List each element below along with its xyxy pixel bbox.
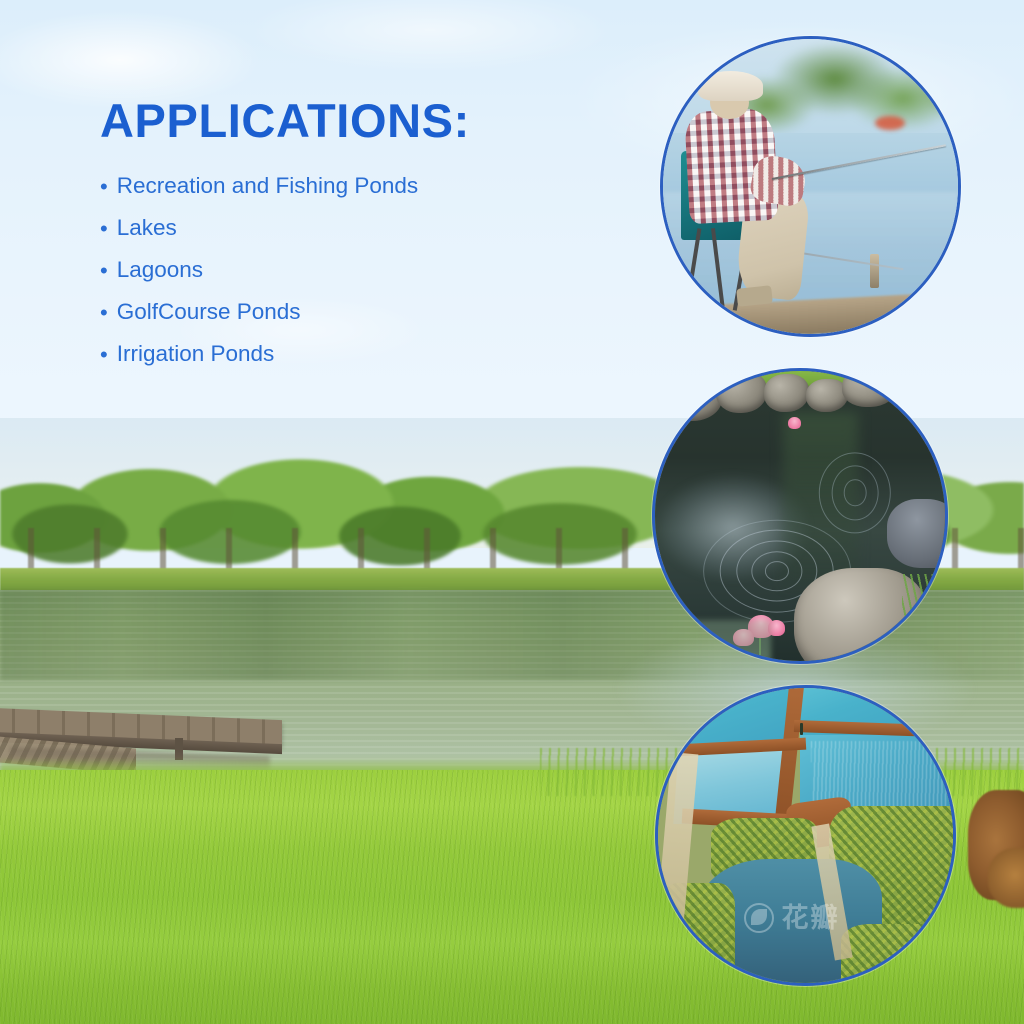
pond-scene (655, 371, 945, 661)
circle-photo-fishing (660, 36, 961, 337)
circle-photo-irrigation: 花瓣 (655, 685, 956, 986)
list-item-label: GolfCourse Ponds (117, 301, 301, 324)
list-item: • GolfCourse Ponds (100, 301, 620, 324)
list-item-label: Irrigation Ponds (117, 343, 275, 366)
pond-outer-water (655, 620, 771, 661)
fishing-dock-post (870, 254, 879, 288)
list-item-label: Lagoons (117, 259, 203, 282)
banner-canvas: APPLICATIONS: • Recreation and Fishing P… (0, 0, 1024, 1024)
page-title: APPLICATIONS: (100, 96, 620, 145)
angler-white-hat (698, 71, 763, 101)
list-item: • Lakes (100, 217, 620, 240)
pond-ripple-rings-secondary (817, 452, 892, 533)
irrigation-scene: 花瓣 (658, 688, 953, 983)
circle-photo-pond (652, 368, 948, 664)
applications-list: • Recreation and Fishing Ponds • Lakes •… (100, 175, 620, 366)
water-lily-distant (788, 417, 801, 429)
bullet-dot-icon: • (100, 344, 108, 366)
angler-shoe (736, 285, 773, 306)
person-on-levee (800, 723, 803, 735)
pond-rock-right (887, 499, 948, 569)
bullet-dot-icon: • (100, 176, 108, 198)
bullet-dot-icon: • (100, 302, 108, 324)
list-item-label: Recreation and Fishing Ponds (117, 175, 418, 198)
bullet-dot-icon: • (100, 218, 108, 240)
list-item: • Irrigation Ponds (100, 343, 620, 366)
list-item-label: Lakes (117, 217, 177, 240)
irrigation-vegetation (841, 924, 956, 986)
applications-panel: APPLICATIONS: • Recreation and Fishing P… (100, 96, 620, 385)
fishing-scene (663, 39, 958, 334)
bullet-dot-icon: • (100, 260, 108, 282)
pond-reeds (902, 574, 937, 638)
pond-rock-border (652, 368, 948, 441)
list-item: • Recreation and Fishing Ponds (100, 175, 620, 198)
fishing-buoy (875, 116, 905, 130)
list-item: • Lagoons (100, 259, 620, 282)
